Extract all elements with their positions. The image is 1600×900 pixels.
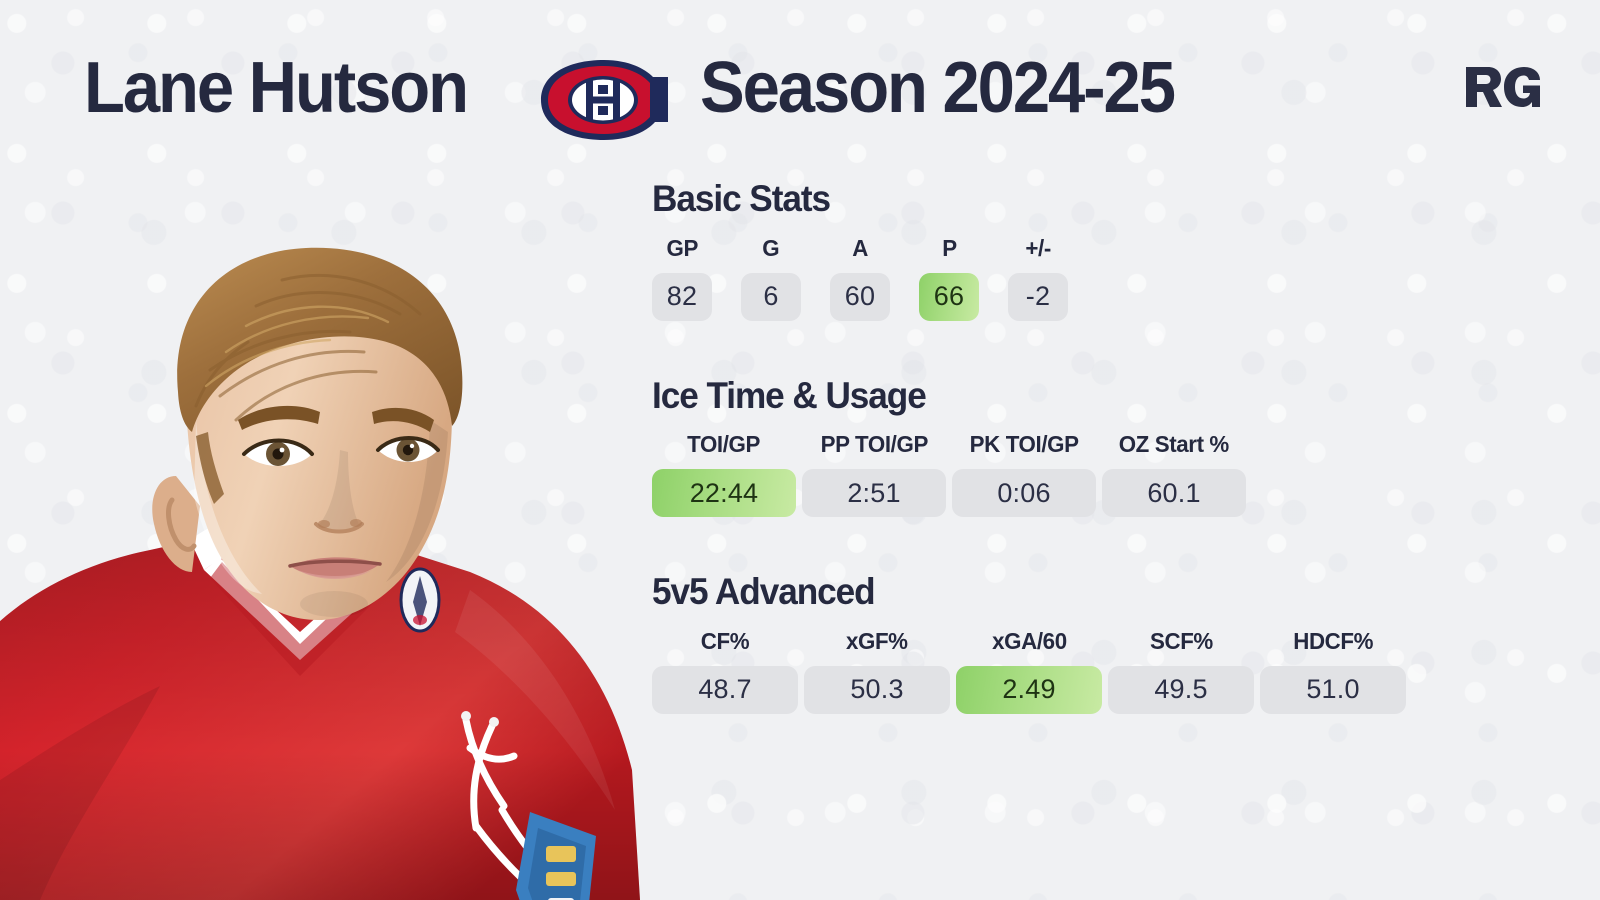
stat-label-pp-toi-gp: PP TOI/GP: [820, 431, 927, 458]
stat-cell-a: A 60: [830, 235, 890, 321]
stat-value-p: 66: [919, 273, 979, 321]
stat-cell-gp: GP 82: [652, 235, 712, 321]
stat-value-a: 60: [830, 273, 890, 321]
stat-cell-xgf-pct: xGF% 50.3: [804, 628, 950, 714]
page-title-season: Season 2024-25: [700, 52, 1174, 124]
stat-cell-pk-toi-gp: PK TOI/GP 0:06: [952, 431, 1096, 517]
section-basic-stats: Basic Stats GP 82 G 6 A 60 P 66: [652, 178, 1552, 321]
section-title-5v5-advanced: 5v5 Advanced: [652, 571, 1507, 614]
stat-cell-plus-minus: +/- -2: [1008, 235, 1068, 321]
stats-panel: Basic Stats GP 82 G 6 A 60 P 66: [652, 178, 1552, 724]
stat-label-hdcf-pct: HDCF%: [1293, 628, 1373, 655]
stat-value-g: 6: [741, 273, 801, 321]
player-headshot-photo: [0, 120, 640, 900]
stat-label-oz-start: OZ Start %: [1119, 431, 1229, 458]
stat-cell-pp-toi-gp: PP TOI/GP 2:51: [802, 431, 946, 517]
stat-label-xga-60: xGA/60: [992, 628, 1067, 655]
stat-value-cf-pct: 48.7: [652, 666, 798, 714]
stat-cell-hdcf-pct: HDCF% 51.0: [1260, 628, 1406, 714]
infographic-canvas: Lane Hutson Season 2024-25: [0, 0, 1600, 900]
stat-cell-oz-start: OZ Start % 60.1: [1102, 431, 1246, 517]
stat-value-toi-gp: 22:44: [652, 469, 796, 517]
stat-cell-xga-60: xGA/60 2.49: [956, 628, 1102, 714]
stat-label-plus-minus: +/-: [1025, 235, 1050, 262]
section-title-ice-time-usage: Ice Time & Usage: [652, 375, 1507, 418]
stat-label-scf-pct: SCF%: [1150, 628, 1213, 655]
stat-value-pk-toi-gp: 0:06: [952, 469, 1096, 517]
montreal-canadiens-logo: [537, 58, 671, 142]
stat-label-pk-toi-gp: PK TOI/GP: [970, 431, 1079, 458]
stat-label-g: G: [763, 235, 780, 262]
stat-value-pp-toi-gp: 2:51: [802, 469, 946, 517]
stat-cell-cf-pct: CF% 48.7: [652, 628, 798, 714]
stat-row-ice-time: TOI/GP 22:44 PP TOI/GP 2:51 PK TOI/GP 0:…: [652, 431, 1552, 517]
stat-value-oz-start: 60.1: [1102, 469, 1246, 517]
stat-label-p: P: [942, 235, 957, 262]
section-5v5-advanced: 5v5 Advanced CF% 48.7 xGF% 50.3 xGA/60 2…: [652, 571, 1552, 714]
stat-cell-p: P 66: [919, 235, 979, 321]
stat-value-scf-pct: 49.5: [1108, 666, 1254, 714]
stat-label-xgf-pct: xGF%: [846, 628, 908, 655]
stat-label-gp: GP: [666, 235, 697, 262]
stat-label-toi-gp: TOI/GP: [688, 431, 761, 458]
stat-row-advanced: CF% 48.7 xGF% 50.3 xGA/60 2.49 SCF% 49.5…: [652, 628, 1552, 714]
stat-value-gp: 82: [652, 273, 712, 321]
stat-cell-scf-pct: SCF% 49.5: [1108, 628, 1254, 714]
rg-brand-logo: [1466, 67, 1540, 107]
stat-value-plus-minus: -2: [1008, 273, 1068, 321]
stat-label-cf-pct: CF%: [701, 628, 749, 655]
stat-row-basic: GP 82 G 6 A 60 P 66 +/- -2: [652, 235, 1552, 321]
stat-value-xgf-pct: 50.3: [804, 666, 950, 714]
header: Lane Hutson Season 2024-25: [0, 0, 1600, 165]
stat-label-a: A: [852, 235, 868, 262]
section-ice-time-usage: Ice Time & Usage TOI/GP 22:44 PP TOI/GP …: [652, 375, 1552, 518]
stat-value-xga-60: 2.49: [956, 666, 1102, 714]
stat-value-hdcf-pct: 51.0: [1260, 666, 1406, 714]
stat-cell-toi-gp: TOI/GP 22:44: [652, 431, 796, 517]
stat-cell-g: G 6: [741, 235, 801, 321]
section-title-basic-stats: Basic Stats: [652, 178, 1507, 221]
page-title-player-name: Lane Hutson: [84, 52, 467, 124]
